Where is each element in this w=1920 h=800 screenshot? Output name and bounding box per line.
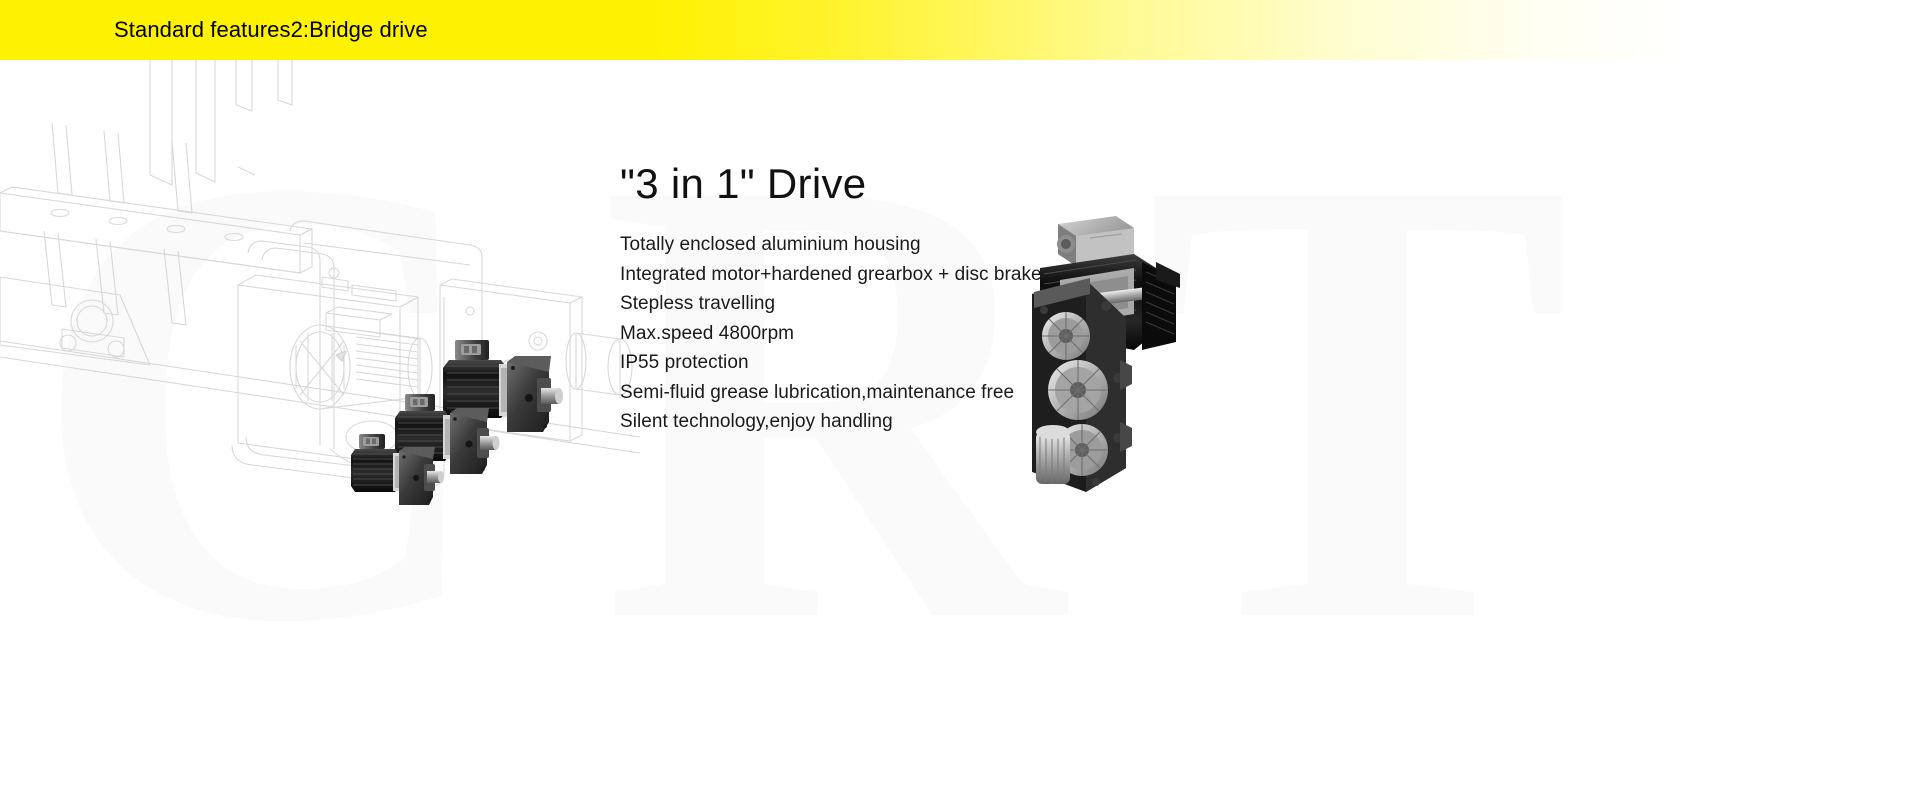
banner-title: Standard features2:Bridge drive (114, 0, 428, 60)
feature-item: Totally enclosed aluminium housing (620, 230, 1140, 260)
page-title: "3 in 1" Drive (620, 158, 1140, 210)
feature-list: Totally enclosed aluminium housing Integ… (620, 230, 1140, 437)
feature-item: Silent technology,enjoy handling (620, 407, 1140, 437)
feature-item: Semi-fluid grease lubrication,maintenanc… (620, 378, 1140, 408)
header-banner: Standard features2:Bridge drive (0, 0, 1920, 60)
feature-text-block: "3 in 1" Drive Totally enclosed aluminiu… (620, 158, 1140, 437)
feature-item: Max.speed 4800rpm (620, 319, 1140, 349)
gearmotor-row-image (345, 330, 615, 540)
feature-item: IP55 protection (620, 348, 1140, 378)
feature-item: Stepless travelling (620, 289, 1140, 319)
feature-item: Integrated motor+hardened grearbox + dis… (620, 260, 1140, 290)
